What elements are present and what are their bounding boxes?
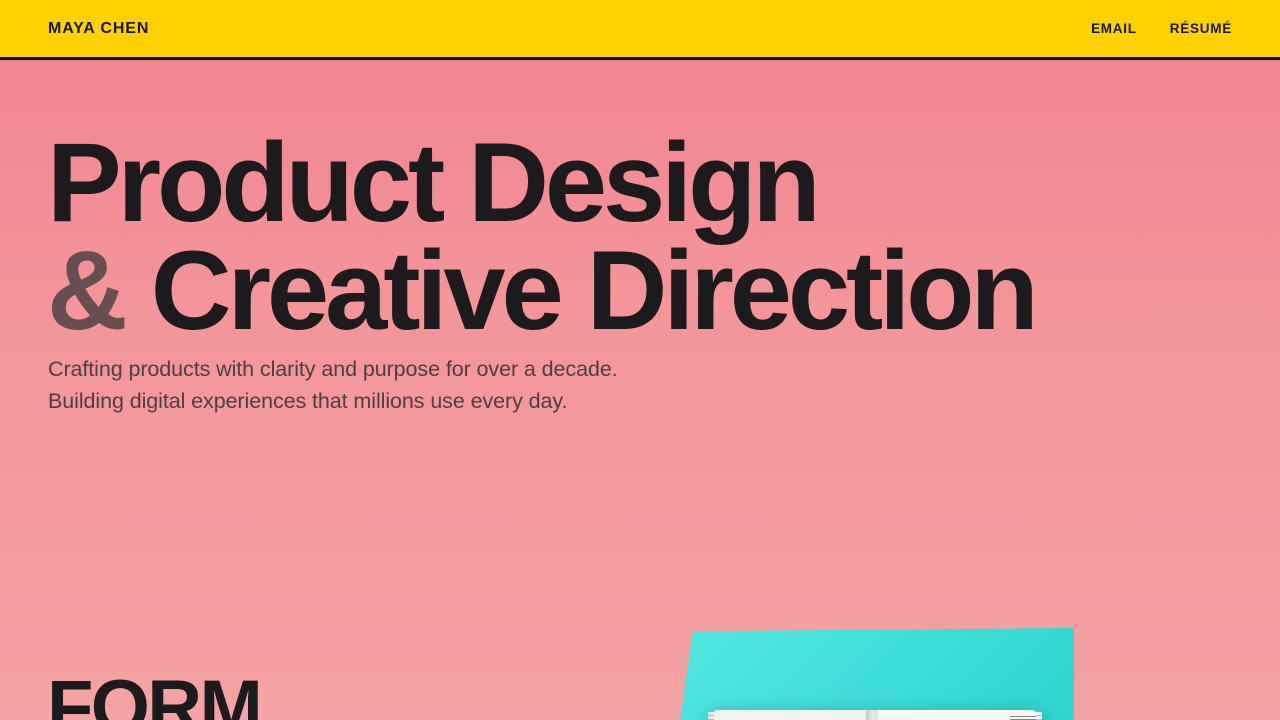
teal-backdrop-sheet [680,628,1074,720]
page-corner-marks [1010,716,1036,720]
magazine-page-left: The ZIN [714,710,872,720]
hero-section: Product Design & Creative Direction Craf… [0,63,1280,720]
hero-title-line-1: Product Design [47,120,817,245]
nav-link-resume[interactable]: RÉSUMÉ [1170,22,1232,36]
brand-logo[interactable]: MAYA CHEN [48,21,149,37]
hero-subtitle: Crafting products with clarity and purpo… [48,353,618,418]
nav-link-email[interactable]: EMAIL [1091,22,1137,36]
hero-title-ampersand: & [47,228,124,353]
hero-subtitle-line-1: Crafting products with clarity and purpo… [48,357,618,381]
magazine-page-right [878,710,1036,720]
main-nav: EMAIL RÉSUMÉ [1091,22,1232,36]
section-heading-form: FORM [47,670,260,720]
magazine-photo: The ZIN [658,560,1098,720]
page-root: MAYA CHEN EMAIL RÉSUMÉ Product Design & … [0,0,1280,720]
open-magazine: The ZIN [714,710,1042,720]
hero-subtitle-line-2: Building digital experiences that millio… [48,389,567,413]
page-title: Product Design & Creative Direction [47,129,1035,345]
hero-title-line-2: Creative Direction [151,228,1035,353]
site-header: MAYA CHEN EMAIL RÉSUMÉ [0,0,1280,60]
